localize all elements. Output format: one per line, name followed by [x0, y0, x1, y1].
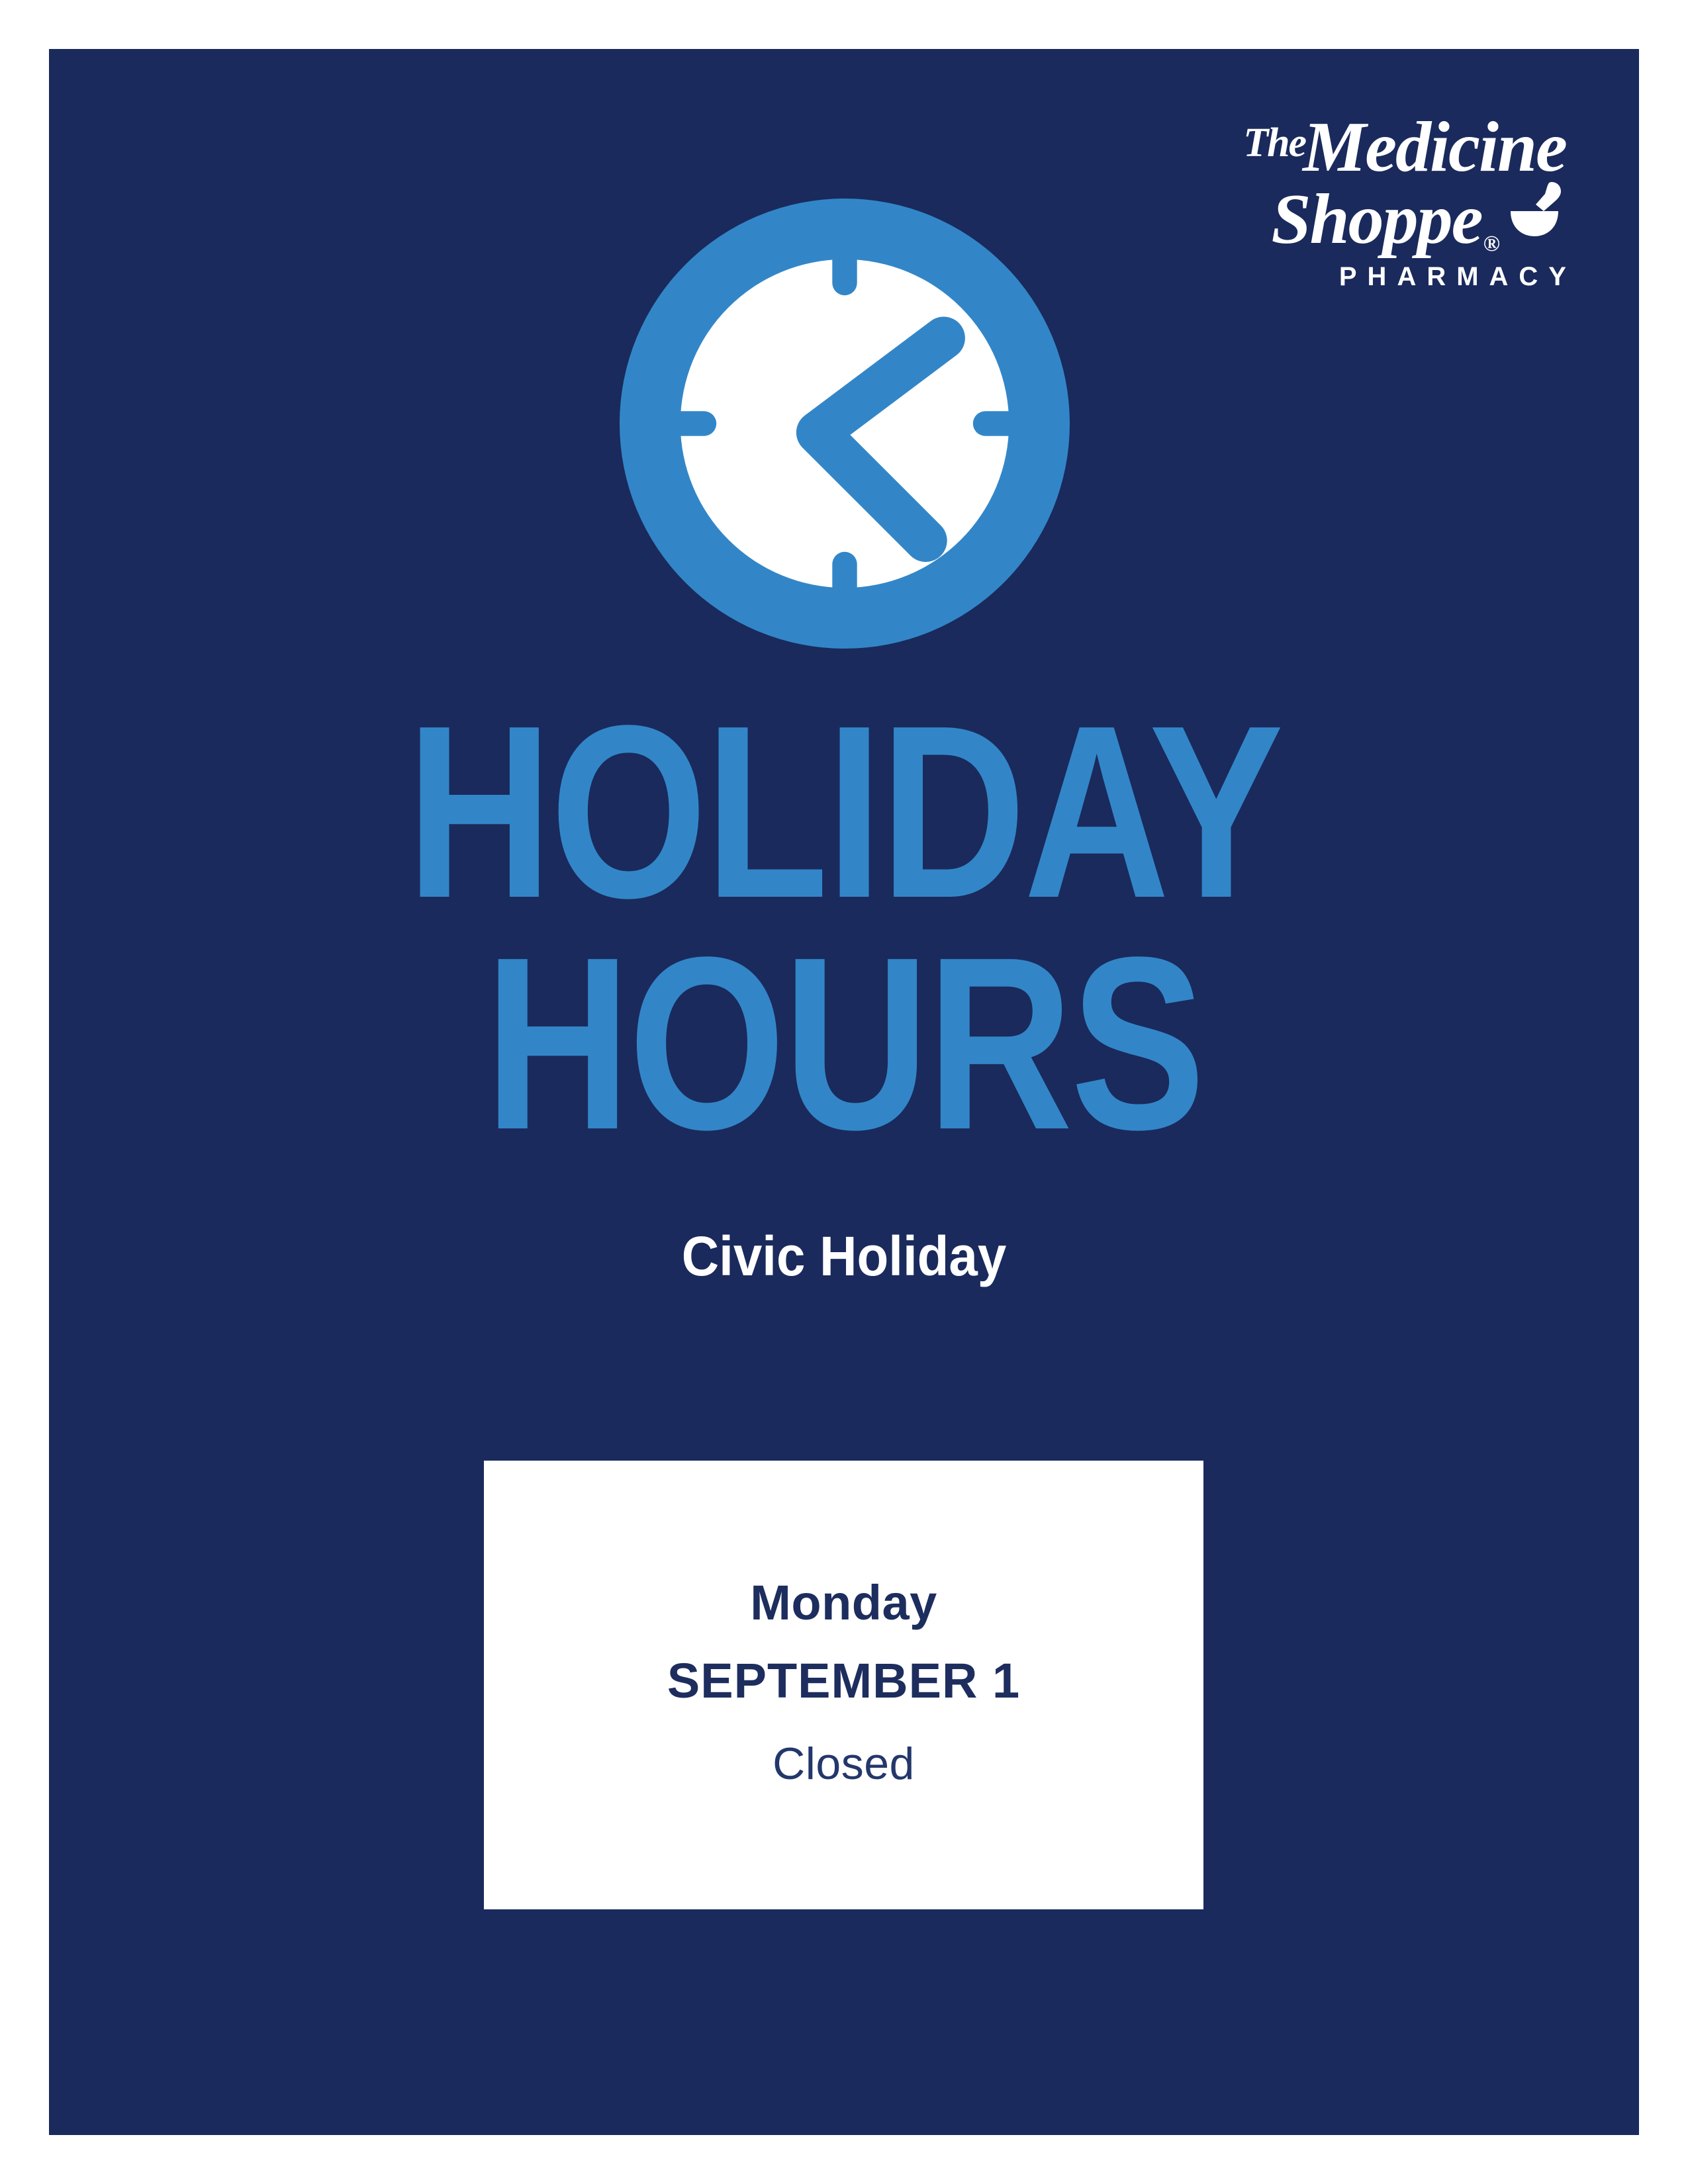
hours-info-card: Monday SEPTEMBER 1 Closed — [484, 1461, 1203, 1909]
holiday-name-subtitle: Civic Holiday — [105, 1224, 1583, 1289]
poster-page: TheMedicine Shoppe® PHARMACY — [0, 0, 1688, 2184]
clock-tick-9 — [667, 411, 716, 435]
poster-panel: TheMedicine Shoppe® PHARMACY — [49, 49, 1639, 2135]
clock-tick-6 — [832, 552, 857, 602]
brand-logo-line-one: TheMedicine — [1143, 112, 1566, 183]
brand-logo-shoppe: Shoppe — [1272, 184, 1482, 255]
brand-logo-line-two: Shoppe® — [1143, 178, 1566, 255]
clock-icon — [620, 199, 1070, 649]
brand-logo-tagline: PHARMACY — [1143, 263, 1577, 290]
registered-trademark-icon: ® — [1483, 233, 1499, 255]
page-title-line-two: HOURS — [192, 928, 1496, 1160]
card-date: SEPTEMBER 1 — [667, 1657, 1020, 1706]
clock-tick-12 — [832, 246, 857, 295]
page-title: HOLIDAY HOURS — [192, 696, 1496, 1159]
brand-logo-medicine: Medicine — [1303, 108, 1566, 187]
status-badge: Closed — [773, 1741, 915, 1786]
mortar-and-pestle-icon — [1505, 178, 1566, 251]
page-title-line-one: HOLIDAY — [192, 696, 1496, 928]
clock-tick-3 — [973, 411, 1023, 435]
brand-logo-the: The — [1243, 120, 1305, 165]
brand-logo: TheMedicine Shoppe® PHARMACY — [1143, 112, 1566, 290]
card-day-of-week: Monday — [750, 1578, 937, 1627]
